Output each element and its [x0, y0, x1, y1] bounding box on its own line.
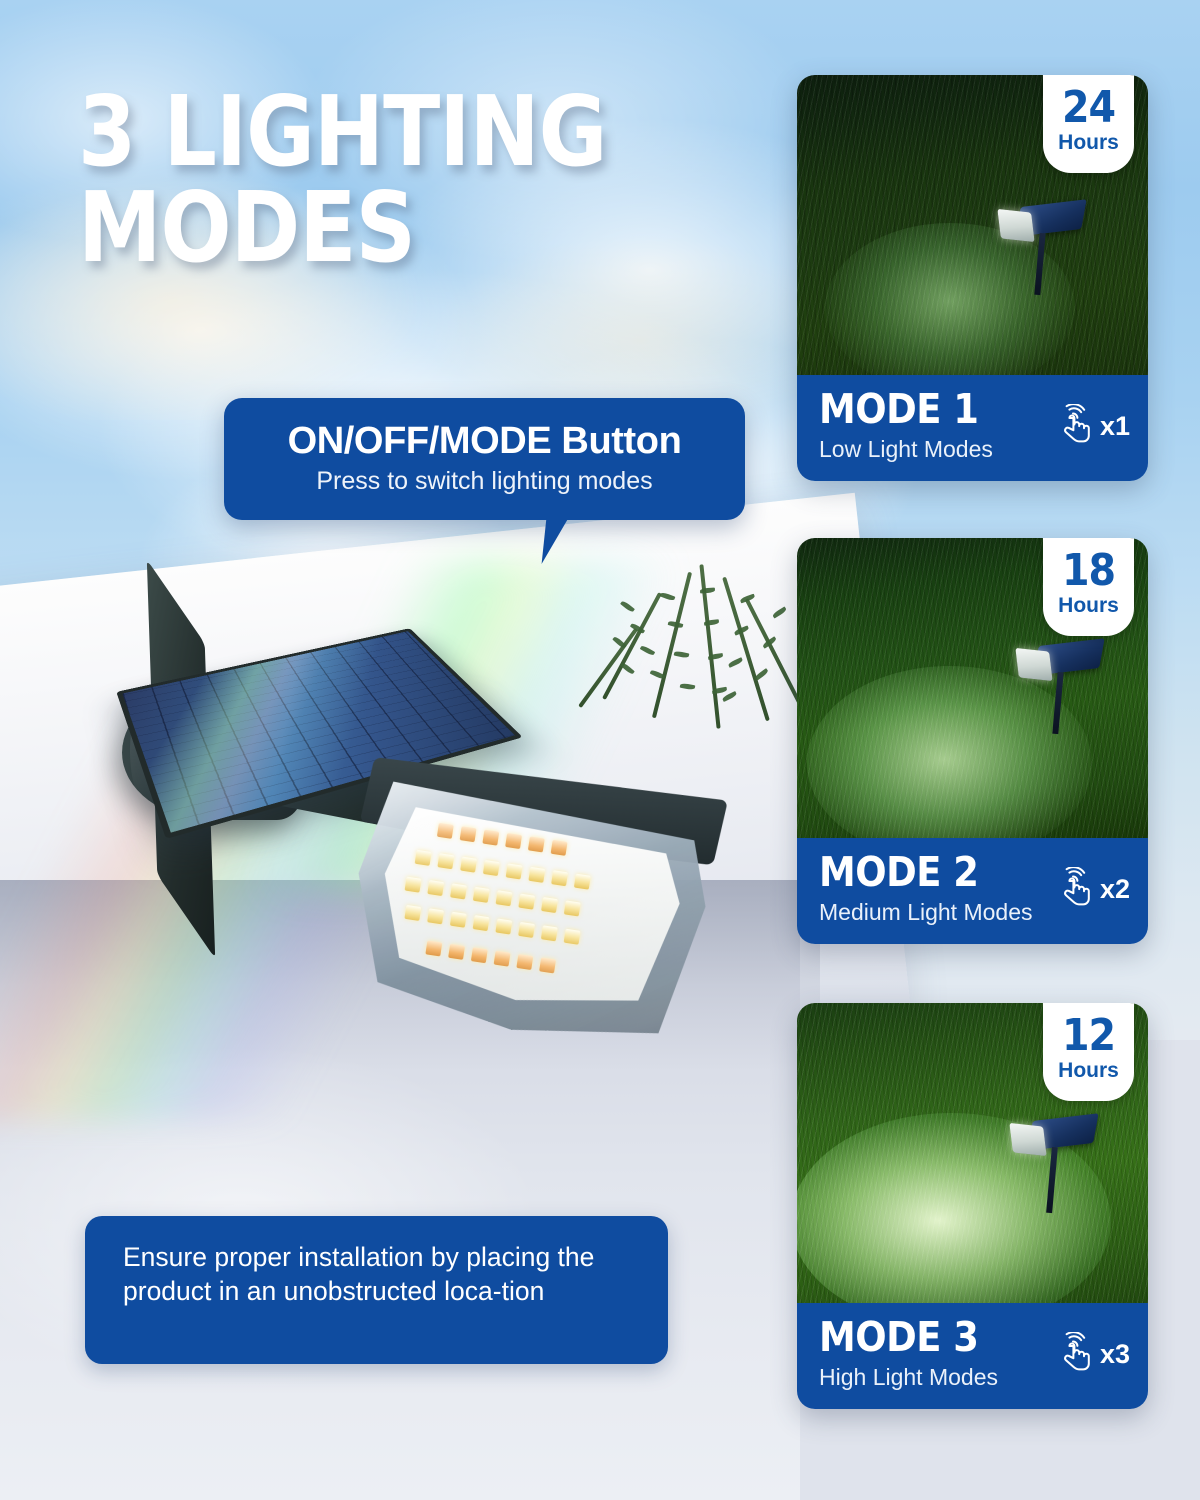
mode-card-3[interactable]: 12 Hours MODE 3 High Light Modes x3 — [797, 1003, 1148, 1409]
mode-subtitle-3: High Light Modes — [819, 1364, 1053, 1391]
lawn-spotlight-3 — [1009, 1111, 1099, 1216]
press-count-3: x3 — [1100, 1339, 1130, 1370]
mode-title-1: MODE 1 — [819, 389, 1053, 430]
tap-hand-icon — [1053, 404, 1095, 448]
press-count-group-2: x2 — [1053, 867, 1148, 911]
hours-number-1: 24 — [1062, 86, 1115, 130]
lawn-spotlight-1 — [997, 197, 1087, 297]
hours-label-3: Hours — [1058, 1059, 1119, 1082]
press-count-1: x1 — [1100, 411, 1130, 442]
mode-photo-2: 18 Hours — [797, 538, 1148, 838]
page-title: 3 LIGHTING MODES — [78, 84, 692, 276]
mode-title-3: MODE 3 — [819, 1317, 1053, 1358]
page-title-line2: MODES — [78, 180, 692, 276]
page-title-line1: 3 LIGHTING — [78, 84, 692, 180]
mode-label-1: MODE 1 Low Light Modes x1 — [797, 375, 1148, 481]
product-solar-wall-light — [118, 545, 738, 1045]
speech-bubble-tail-icon — [542, 518, 583, 564]
mode-photo-3: 12 Hours — [797, 1003, 1148, 1303]
mode-subtitle-2: Medium Light Modes — [819, 899, 1053, 926]
infographic-scene: 3 LIGHTING MODES ON/OFF/MODE Button Pres… — [0, 0, 1200, 1500]
mode-label-2: MODE 2 Medium Light Modes x2 — [797, 838, 1148, 944]
hours-number-3: 12 — [1062, 1014, 1115, 1058]
button-callout: ON/OFF/MODE Button Press to switch light… — [224, 398, 745, 520]
mode-card-1[interactable]: 24 Hours MODE 1 Low Light Modes x1 — [797, 75, 1148, 481]
mode-subtitle-1: Low Light Modes — [819, 436, 1053, 463]
mode-photo-1: 24 Hours — [797, 75, 1148, 375]
led-lamp-head-icon — [339, 779, 717, 1056]
callout-subtitle: Press to switch lighting modes — [316, 467, 652, 496]
mode-title-2: MODE 2 — [819, 852, 1053, 893]
mode-label-3: MODE 3 High Light Modes x3 — [797, 1303, 1148, 1409]
callout-title: ON/OFF/MODE Button — [288, 422, 682, 462]
tap-hand-icon — [1053, 867, 1095, 911]
installation-note: Ensure proper installation by placing th… — [85, 1216, 668, 1364]
hours-badge-1: 24 Hours — [1043, 75, 1134, 173]
tap-hand-icon — [1053, 1332, 1095, 1376]
press-count-2: x2 — [1100, 874, 1130, 905]
hours-badge-3: 12 Hours — [1043, 1003, 1134, 1101]
lawn-spotlight-2 — [1015, 636, 1105, 736]
press-count-group-3: x3 — [1053, 1332, 1148, 1376]
hours-label-1: Hours — [1058, 131, 1119, 154]
hours-number-2: 18 — [1062, 549, 1115, 593]
mode-card-2[interactable]: 18 Hours MODE 2 Medium Light Modes x2 — [797, 538, 1148, 944]
hours-badge-2: 18 Hours — [1043, 538, 1134, 636]
press-count-group-1: x1 — [1053, 404, 1148, 448]
hours-label-2: Hours — [1058, 594, 1119, 617]
